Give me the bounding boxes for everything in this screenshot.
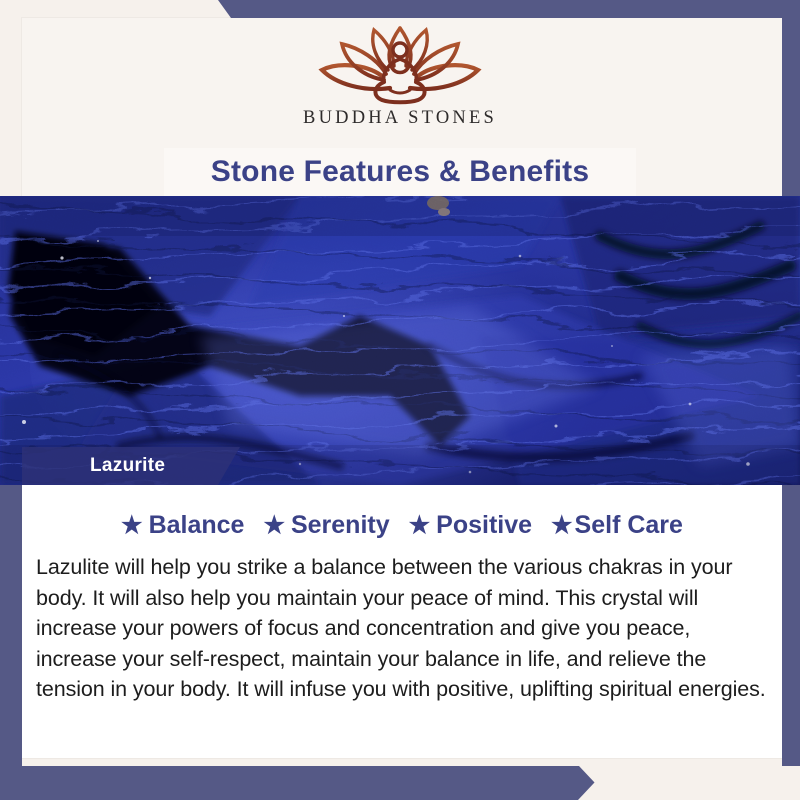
star-icon: ★ — [409, 514, 431, 538]
feature-item-positive: ★ Positive — [409, 511, 532, 540]
infographic-canvas: BUDDHA STONES Stone Features & Benefits — [0, 0, 800, 800]
decorative-bottom-right-wedge — [578, 766, 800, 800]
feature-label: Serenity — [291, 511, 390, 540]
stone-name-banner: Lazurite — [22, 447, 240, 485]
feature-label: Positive — [436, 511, 532, 540]
decorative-top-strip — [0, 0, 800, 18]
lotus-meditating-figure-icon — [312, 22, 488, 106]
title-banner: Stone Features & Benefits — [164, 148, 636, 196]
stone-name: Lazurite — [90, 455, 165, 477]
brand-wordmark: BUDDHA STONES — [303, 108, 497, 129]
feature-item-serenity: ★ Serenity — [263, 511, 389, 540]
brand-logo-block: BUDDHA STONES — [0, 22, 800, 144]
feature-label: Balance — [149, 511, 245, 540]
star-icon: ★ — [121, 514, 143, 538]
page-title: Stone Features & Benefits — [211, 155, 589, 189]
benefits-panel: ★ Balance ★ Serenity ★ Positive ★ Self C… — [22, 485, 782, 758]
feature-label: Self Care — [575, 511, 683, 540]
feature-item-balance: ★ Balance — [121, 511, 244, 540]
star-icon: ★ — [551, 514, 573, 538]
feature-item-self-care: ★ Self Care — [551, 511, 683, 540]
decorative-left-band — [0, 470, 22, 800]
star-icon: ★ — [263, 514, 285, 538]
feature-list: ★ Balance ★ Serenity ★ Positive ★ Self C… — [22, 511, 782, 540]
benefits-description: Lazulite will help you strike a balance … — [36, 552, 768, 705]
stone-photo: Lazurite — [0, 196, 800, 485]
